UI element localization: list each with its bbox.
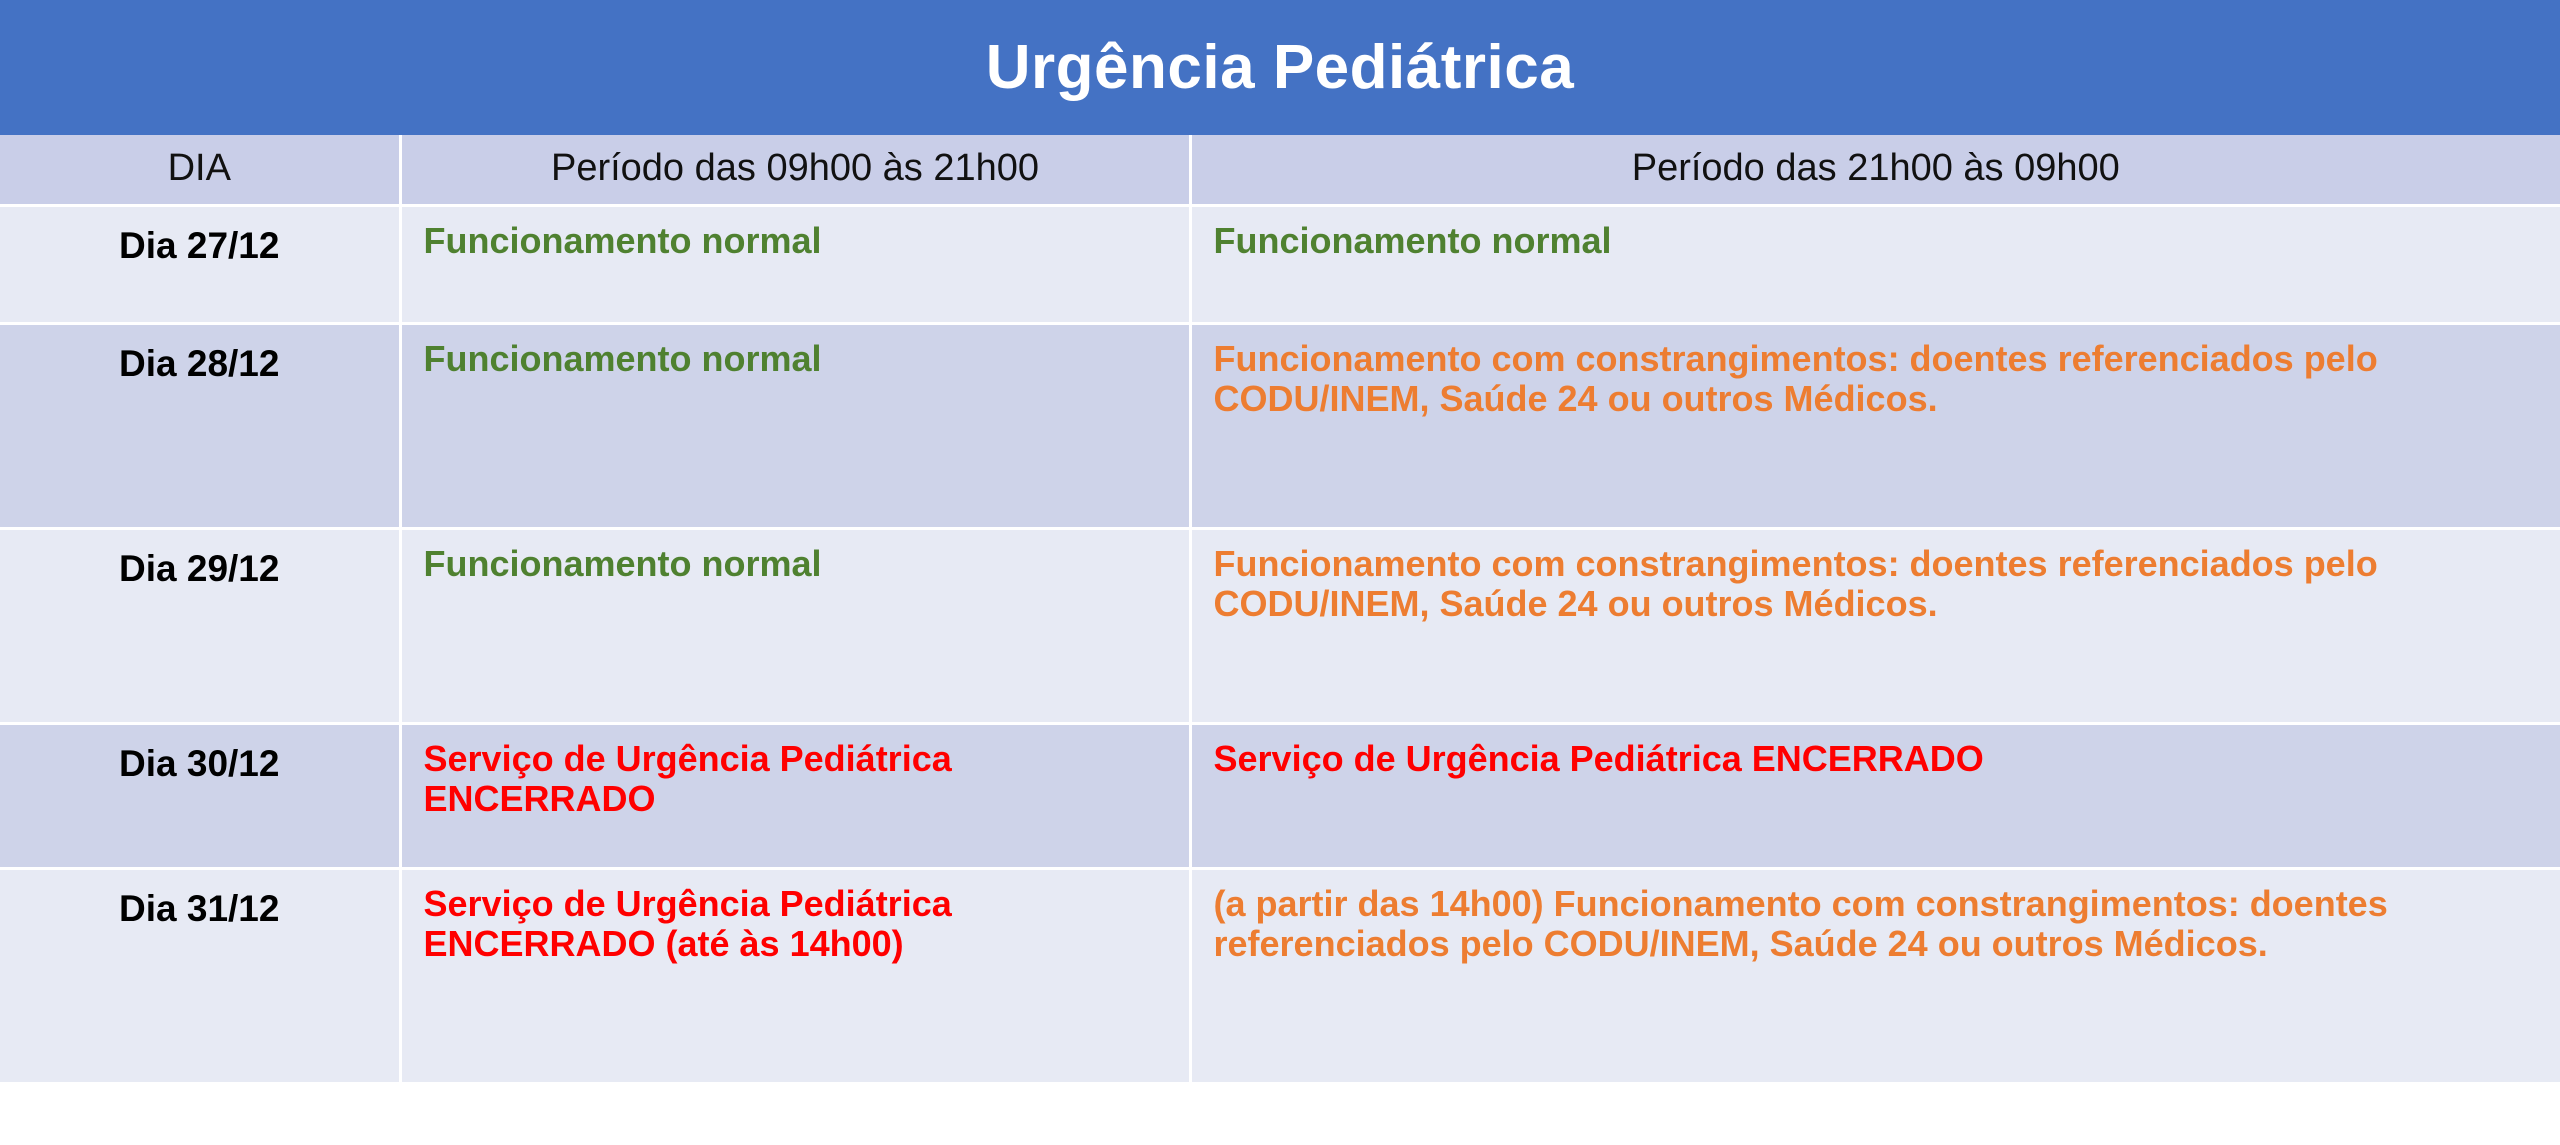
cell-day: Dia 29/12 [0, 529, 400, 724]
column-header-dia: DIA [0, 135, 400, 206]
cell-nighttime-status: (a partir das 14h00) Funcionamento com c… [1190, 869, 2560, 1084]
slide-root: Urgência Pediátrica DIA Período das 09h0… [0, 0, 2560, 1145]
title-bar: Urgência Pediátrica [0, 0, 2560, 135]
cell-day: Dia 30/12 [0, 724, 400, 869]
cell-daytime-status: Serviço de Urgência Pediátrica ENCERRADO [400, 724, 1190, 869]
cell-nighttime-status: Funcionamento com constrangimentos: doen… [1190, 529, 2560, 724]
table-row: Dia 29/12 Funcionamento normal Funcionam… [0, 529, 2560, 724]
table-row: Dia 27/12 Funcionamento normal Funcionam… [0, 206, 2560, 324]
cell-day: Dia 28/12 [0, 324, 400, 529]
cell-daytime-status: Funcionamento normal [400, 529, 1190, 724]
cell-day: Dia 27/12 [0, 206, 400, 324]
column-header-periodo-dia: Período das 09h00 às 21h00 [400, 135, 1190, 206]
cell-daytime-status: Funcionamento normal [400, 206, 1190, 324]
table-header: DIA Período das 09h00 às 21h00 Período d… [0, 135, 2560, 206]
cell-daytime-status: Funcionamento normal [400, 324, 1190, 529]
cell-nighttime-status: Funcionamento normal [1190, 206, 2560, 324]
table-row: Dia 30/12 Serviço de Urgência Pediátrica… [0, 724, 2560, 869]
table-row: Dia 28/12 Funcionamento normal Funcionam… [0, 324, 2560, 529]
table-header-row: DIA Período das 09h00 às 21h00 Período d… [0, 135, 2560, 206]
schedule-table: DIA Período das 09h00 às 21h00 Período d… [0, 135, 2560, 1085]
column-header-periodo-noite: Período das 21h00 às 09h00 [1190, 135, 2560, 206]
cell-day: Dia 31/12 [0, 869, 400, 1084]
table-row: Dia 31/12 Serviço de Urgência Pediátrica… [0, 869, 2560, 1084]
cell-nighttime-status: Funcionamento com constrangimentos: doen… [1190, 324, 2560, 529]
cell-nighttime-status: Serviço de Urgência Pediátrica ENCERRADO [1190, 724, 2560, 869]
page-title: Urgência Pediátrica [986, 37, 1574, 99]
table-body: Dia 27/12 Funcionamento normal Funcionam… [0, 206, 2560, 1084]
cell-daytime-status: Serviço de Urgência Pediátrica ENCERRADO… [400, 869, 1190, 1084]
